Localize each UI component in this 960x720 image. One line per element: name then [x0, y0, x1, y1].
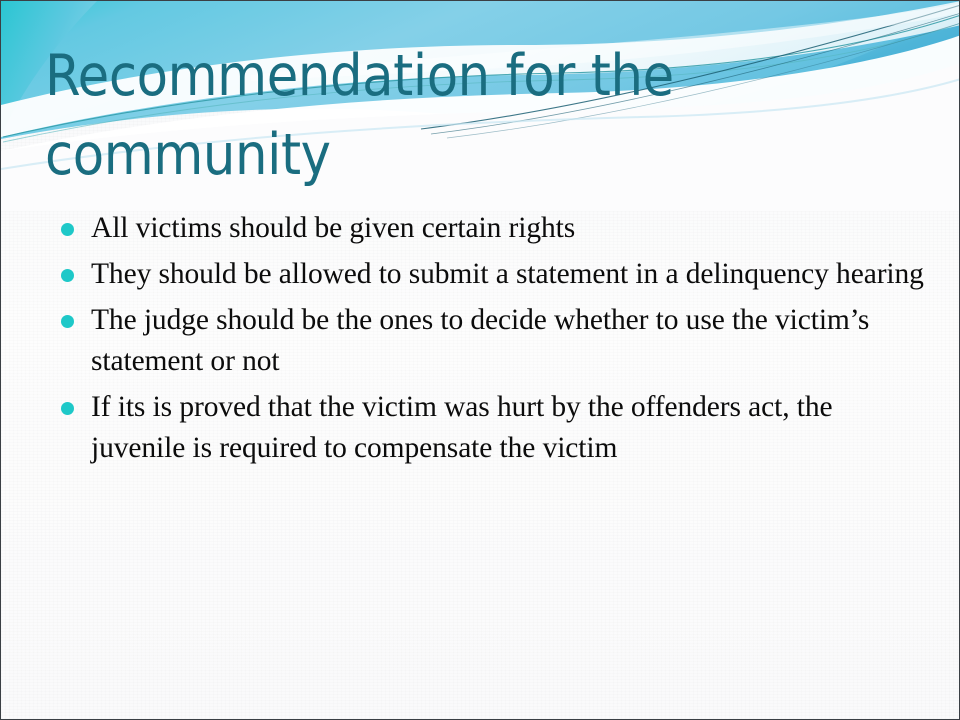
list-item-text: All victims should be given certain righ…: [91, 208, 929, 249]
list-item: If its is proved that the victim was hur…: [53, 387, 929, 469]
slide-bullet-list: All victims should be given certain righ…: [53, 208, 929, 474]
list-item-text: The judge should be the ones to decide w…: [91, 300, 929, 382]
list-item: All victims should be given certain righ…: [53, 208, 929, 249]
list-item: The judge should be the ones to decide w…: [53, 300, 929, 382]
list-item-text: They should be allowed to submit a state…: [91, 254, 929, 295]
bullet-point-icon: [61, 402, 74, 415]
bullet-point-icon: [61, 269, 74, 282]
list-item-text: If its is proved that the victim was hur…: [91, 387, 929, 469]
list-item: They should be allowed to submit a state…: [53, 254, 929, 295]
bullet-point-icon: [61, 315, 74, 328]
bullet-point-icon: [61, 223, 74, 236]
presentation-slide: Recommendation for the community All vic…: [0, 0, 960, 720]
page-title: Recommendation for the community: [45, 37, 905, 195]
